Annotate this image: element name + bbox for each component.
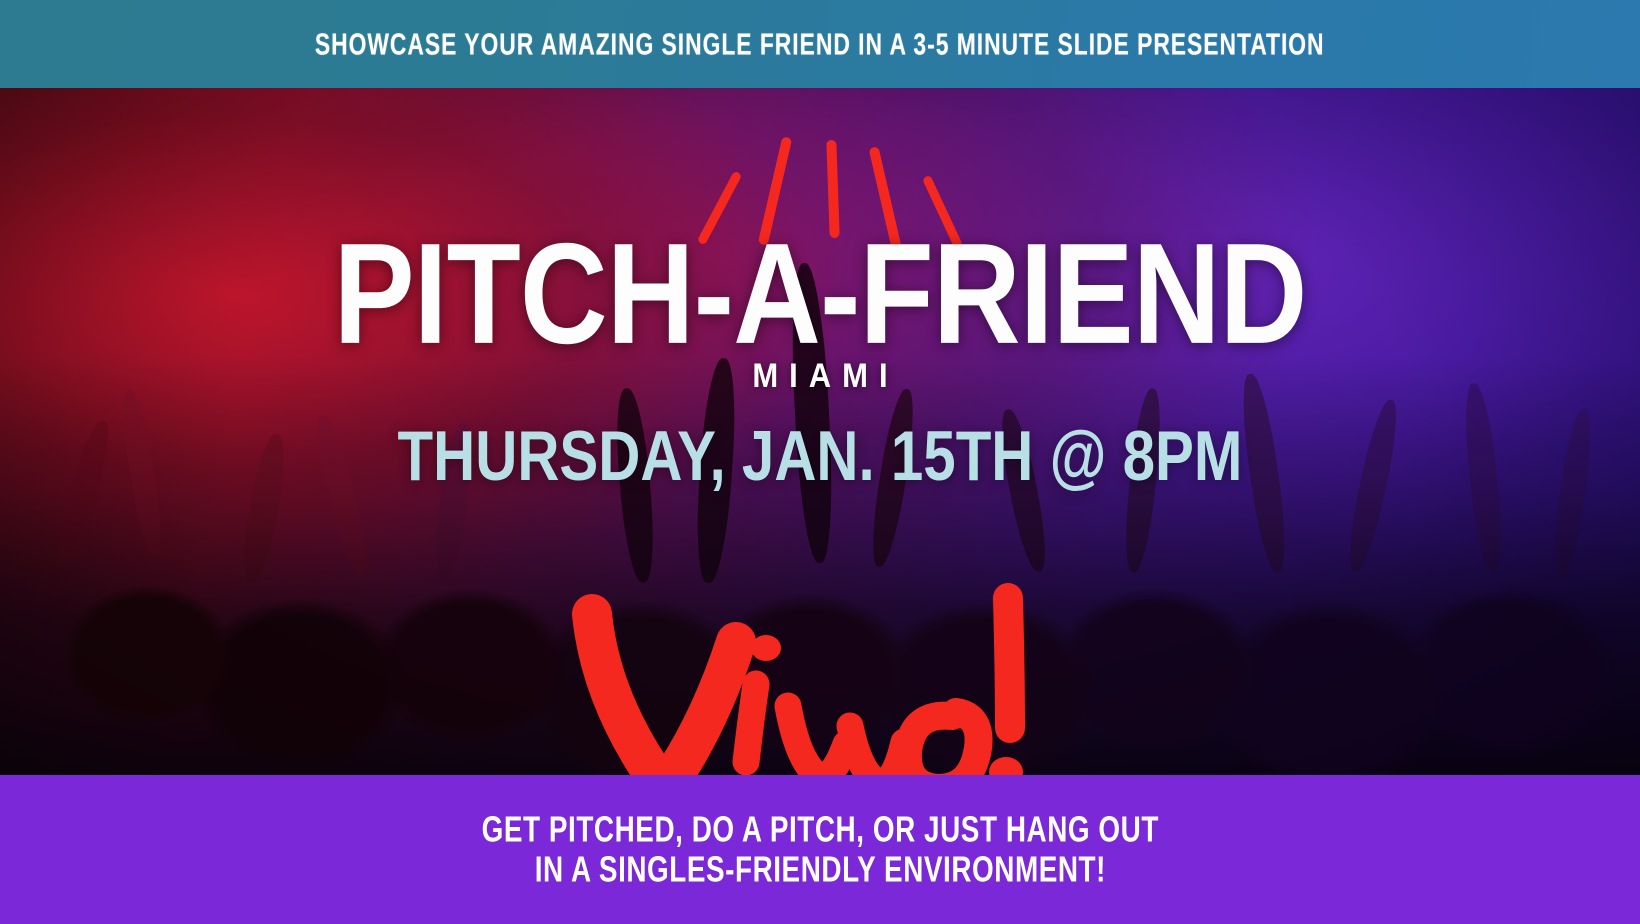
bottom-banner-line-2: IN A SINGLES-FRIENDLY ENVIRONMENT! bbox=[534, 850, 1105, 889]
spark-ray-4 bbox=[869, 146, 902, 249]
spark-ray-3 bbox=[826, 140, 839, 238]
top-banner: SHOWCASE YOUR AMAZING SINGLE FRIEND IN A… bbox=[0, 0, 1640, 88]
top-banner-text: SHOWCASE YOUR AMAZING SINGLE FRIEND IN A… bbox=[315, 26, 1325, 63]
vivo-exclamation-dot bbox=[989, 757, 1023, 775]
spark-ray-2 bbox=[758, 136, 792, 245]
spark-ray-5 bbox=[922, 175, 963, 249]
vivo-logo bbox=[560, 576, 1040, 775]
hero-section: PITCH-A-FRIEND MIAMI THURSDAY, JAN. 15TH… bbox=[0, 88, 1640, 775]
event-poster: SHOWCASE YOUR AMAZING SINGLE FRIEND IN A… bbox=[0, 0, 1640, 924]
vivo-i-dot bbox=[751, 635, 781, 661]
bottom-banner: GET PITCHED, DO A PITCH, OR JUST HANG OU… bbox=[0, 775, 1640, 924]
bottom-banner-line-1: GET PITCHED, DO A PITCH, OR JUST HANG OU… bbox=[481, 810, 1158, 849]
spark-ray-1 bbox=[697, 171, 743, 246]
